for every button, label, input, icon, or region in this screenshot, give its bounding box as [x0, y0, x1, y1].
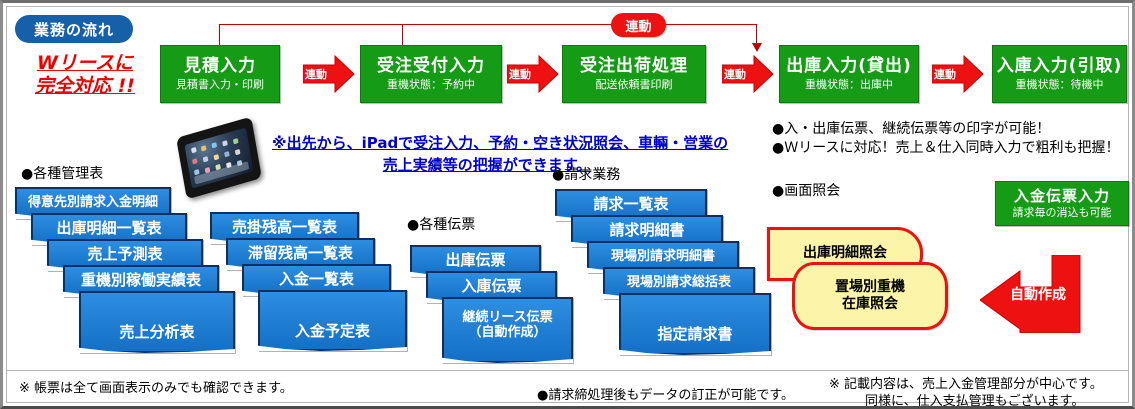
- auto-create-arrow-icon: 自動作成: [980, 255, 1090, 333]
- card-label: 入金一覧表: [276, 271, 357, 288]
- ipad-screen: [184, 127, 253, 188]
- process-box-2[interactable]: 受注受付入力 重機状態：予約中: [360, 45, 502, 103]
- card-label: 売上予測表: [84, 246, 165, 263]
- ipad-dock: [194, 161, 249, 184]
- connector-drop-1: [219, 24, 220, 46]
- payment-entry-box[interactable]: 入金伝票入力 請求毎の消込も可能: [995, 181, 1129, 226]
- flow-arrow-label-4: 連動: [934, 66, 956, 82]
- connector-drop-2: [402, 24, 403, 46]
- diagram-canvas: 業務の流れ Wリースに 完全対応 !! 連動 見積入力 見積書入力・印刷 受注受…: [0, 0, 1135, 409]
- footnote-left: ※ 帳票は全て画面表示のみでも確認できます。: [19, 377, 293, 396]
- inquiry-callout-1-label: 出庫明細照会: [803, 245, 887, 263]
- flow-arrow-label-1: 連動: [305, 66, 327, 82]
- ipad-note-line-2: 売上実績等の把握ができます。: [272, 155, 702, 177]
- group-heading-kanri: ●各種管理表: [21, 163, 103, 183]
- card-label: 出庫明細一覧表: [53, 220, 164, 237]
- card-label: 重機別稼働実績表: [78, 272, 204, 289]
- flow-arrow-label-3: 連動: [724, 66, 746, 82]
- connector-horizontal: [219, 24, 757, 25]
- process-box-3-sub: 配送依頼書印刷: [596, 79, 673, 91]
- headline-line-1: Wリースに: [19, 52, 151, 75]
- group-heading-seikyu: ●請求業務: [552, 164, 620, 184]
- card-label: 入金予定表: [292, 301, 373, 340]
- footer-divider: [7, 370, 1128, 371]
- feature-bullet-1: ●入・出庫伝票、継続伝票等の印字が可能！: [772, 119, 1050, 139]
- footnote-right-line-2: 同様に、仕入支払管理もございます。: [865, 390, 1084, 409]
- card-stack-zandaka: 売掛残高一覧表 滞留残高一覧表 入金一覧表 入金予定表: [202, 212, 422, 362]
- flow-arrow-icon-4: 連動: [932, 55, 984, 93]
- ipad-note[interactable]: ※出先から、iPadで受注入力、予約・空き状況照会、車輛・営業の 売上実績等の把…: [272, 133, 702, 177]
- process-box-1[interactable]: 見積入力 見積書入力・印刷: [160, 45, 280, 103]
- process-box-4-sub: 重機状態：出庫中: [805, 79, 893, 91]
- card-label: 現場別請求明細書: [608, 250, 718, 265]
- flow-arrow-icon-2: 連動: [507, 55, 559, 93]
- footnote-right-prefix: 同様に、: [865, 394, 917, 409]
- process-box-5-title: 入庫入力(引取): [997, 57, 1123, 76]
- card-label: 得意先別請求入金明細: [25, 196, 161, 211]
- flow-arrow-label-2: 連動: [509, 66, 531, 82]
- process-box-2-sub: 重機状態：予約中: [387, 79, 475, 91]
- card-label: 請求一覧表: [590, 196, 671, 213]
- card-label: 滞留残高一覧表: [245, 245, 356, 262]
- process-box-5[interactable]: 入庫入力(引取) 重機状態：待機中: [992, 45, 1127, 103]
- headline-wlease: Wリースに 完全対応 !!: [19, 52, 151, 98]
- inquiry-callout-2[interactable]: 置場別重機 在庫照会: [792, 262, 948, 330]
- process-box-1-sub: 見積書入力・印刷: [176, 79, 264, 91]
- connector-arrowhead-icon: [751, 41, 763, 53]
- flow-arrow-icon-1: 連動: [303, 55, 355, 93]
- card-label: 入庫伝票: [458, 278, 524, 295]
- group-heading-denpyo: ●各種伝票: [407, 214, 475, 234]
- card-label: 出庫伝票: [442, 252, 508, 269]
- headline-line-2: 完全対応 !!: [19, 75, 151, 98]
- feature-bullet-2: ●Ｗリースに対応！売上＆仕入同時入力で粗利も把握！: [772, 138, 1120, 158]
- group-heading-inquiry: ●画面照会: [772, 180, 840, 200]
- list-item[interactable]: 入金予定表: [258, 290, 407, 351]
- auto-create-arrow-label: 自動作成: [1010, 284, 1066, 304]
- link-oval-rendou: 連動: [611, 13, 666, 37]
- section-badge-workflow: 業務の流れ: [15, 15, 133, 43]
- process-box-5-sub: 重機状態：待機中: [1016, 79, 1104, 91]
- card-stack-seikyu: 請求一覧表 請求明細書 現場別請求明細書 現場別請求総括表 指定請求書: [547, 189, 777, 359]
- process-box-3-title: 受注出荷処理: [580, 57, 688, 76]
- process-box-4-title: 出庫入力(貸出): [786, 57, 912, 76]
- card-label: 請求明細書: [606, 222, 687, 239]
- card-label: 売掛残高一覧表: [229, 219, 340, 236]
- list-item[interactable]: 指定請求書: [619, 293, 771, 355]
- payment-entry-title: 入金伝票入力: [1014, 188, 1110, 205]
- footnote-middle: ●請求締処理後もデータの訂正が可能です。: [537, 384, 794, 403]
- process-box-2-title: 受注受付入力: [377, 57, 485, 76]
- flow-arrow-icon-3: 連動: [722, 55, 774, 93]
- inquiry-callout-2-label: 置場別重機 在庫照会: [835, 279, 905, 314]
- process-box-1-title: 見積入力: [184, 57, 256, 76]
- process-box-4[interactable]: 出庫入力(貸出) 重機状態：出庫中: [779, 45, 919, 103]
- payment-entry-sub: 請求毎の消込も可能: [1013, 207, 1112, 219]
- ipad-note-line-1: ※出先から、iPadで受注入力、予約・空き状況照会、車輛・営業の: [272, 133, 702, 155]
- process-box-3[interactable]: 受注出荷処理 配送依頼書印刷: [562, 45, 706, 103]
- diagram-frame: 業務の流れ Wリースに 完全対応 !! 連動 見積入力 見積書入力・印刷 受注受…: [6, 6, 1129, 403]
- footnote-right-link[interactable]: 仕入支払管理: [917, 394, 995, 409]
- card-label: 指定請求書: [654, 304, 735, 343]
- card-label: 現場別請求総括表: [624, 276, 734, 291]
- card-label: 継続リース伝票 （自動作成）: [459, 311, 555, 349]
- card-label: 売上分析表: [116, 302, 197, 341]
- footnote-right-suffix: もございます。: [995, 394, 1085, 409]
